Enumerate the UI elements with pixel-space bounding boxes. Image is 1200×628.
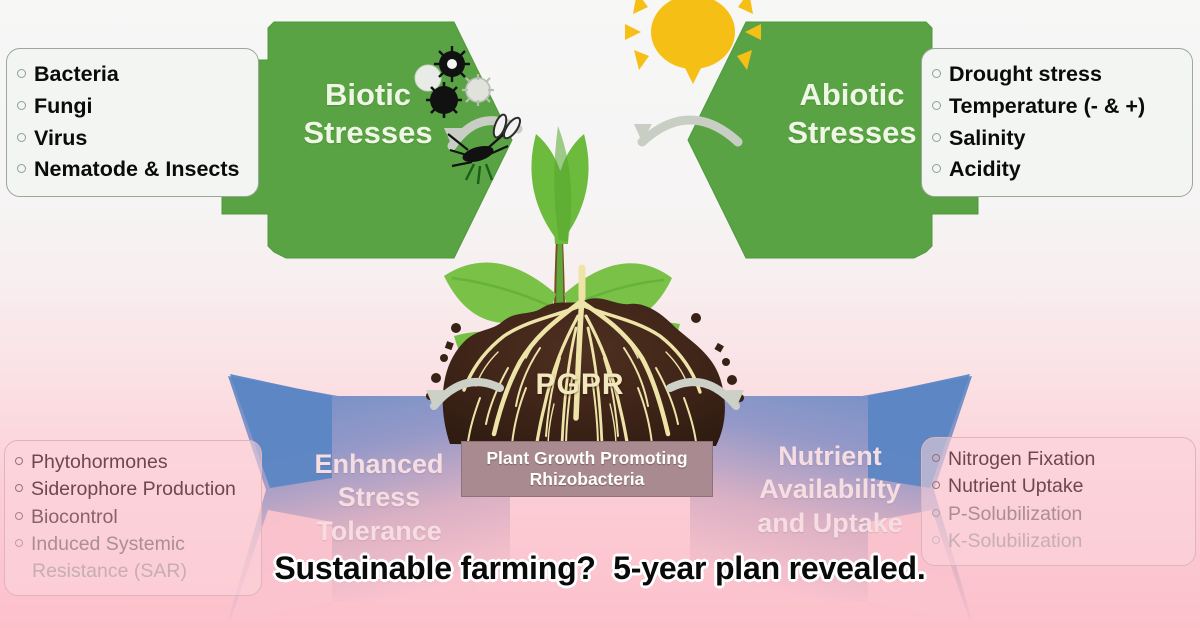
list-item-label: Nematode & Insects: [34, 154, 240, 186]
figure-canvas: Biotic Stresses Abiotic Stresses: [0, 0, 1200, 628]
bullet-icon: [17, 133, 26, 142]
list-item: P-Solubilization: [932, 501, 1183, 528]
list-item-label: Temperature (- & +): [949, 91, 1145, 123]
pgpr-traits-left-list: Phytohormones Siderophore Production Bio…: [15, 449, 249, 585]
list-item: Fungi: [17, 91, 246, 123]
bullet-icon: [17, 101, 26, 110]
biotic-stresses-panel: Bacteria Fungi Virus Nematode & Insects: [6, 48, 259, 197]
bullet-icon: [932, 164, 941, 173]
abiotic-stresses-panel: Drought stress Temperature (- & +) Salin…: [921, 48, 1193, 197]
bullet-icon: [932, 481, 940, 489]
list-item-label: Bacteria: [34, 59, 119, 91]
list-item-label: Virus: [34, 123, 87, 155]
list-item-label: Biocontrol: [31, 504, 118, 531]
bullet-icon: [17, 69, 26, 78]
list-item: Acidity: [932, 154, 1180, 186]
bullet-icon: [15, 484, 23, 492]
list-item-label: Drought stress: [949, 59, 1102, 91]
list-item-label: Acidity: [949, 154, 1021, 186]
list-item: Virus: [17, 123, 246, 155]
list-item: K-Solubilization: [932, 528, 1183, 555]
list-item: Bacteria: [17, 59, 246, 91]
pgpr-caption-line2: Rhizobacteria: [486, 469, 687, 490]
list-item: Salinity: [932, 123, 1180, 155]
pgpr-traits-left-panel: Phytohormones Siderophore Production Bio…: [4, 440, 262, 596]
list-item-label: Siderophore Production: [31, 476, 236, 503]
list-item: Nitrogen Fixation: [932, 446, 1183, 473]
list-item: Temperature (- & +): [932, 91, 1180, 123]
list-item-label: Salinity: [949, 123, 1025, 155]
soil-roots-illustration: [420, 258, 750, 458]
list-item: Nematode & Insects: [17, 154, 246, 186]
list-item-label: Nitrogen Fixation: [948, 446, 1095, 473]
virus-pathogen-icons: [415, 46, 494, 118]
list-item: Resistance (SAR): [15, 558, 249, 585]
abiotic-stresses-list: Drought stress Temperature (- & +) Salin…: [932, 59, 1180, 186]
biotic-stresses-list: Bacteria Fungi Virus Nematode & Insects: [17, 59, 246, 186]
bullet-icon: [932, 509, 940, 517]
pgpr-traits-right-panel: Nitrogen Fixation Nutrient Uptake P-Solu…: [921, 437, 1196, 566]
bullet-icon: [932, 69, 941, 78]
pgpr-caption-line1: Plant Growth Promoting: [486, 448, 687, 469]
bullet-icon: [17, 164, 26, 173]
list-item: Biocontrol: [15, 504, 249, 531]
list-item-label: P-Solubilization: [948, 501, 1082, 528]
list-item: Siderophore Production: [15, 476, 249, 503]
list-item-label: Resistance (SAR): [32, 558, 187, 585]
curved-arrow-icon-right: [642, 120, 738, 142]
sun-icon: [625, 0, 761, 84]
list-item-label: Fungi: [34, 91, 93, 123]
pgpr-traits-right-list: Nitrogen Fixation Nutrient Uptake P-Solu…: [932, 446, 1183, 555]
bullet-icon: [932, 536, 940, 544]
bullet-icon: [932, 454, 940, 462]
list-item-label: Nutrient Uptake: [948, 473, 1083, 500]
list-item: Phytohormones: [15, 449, 249, 476]
bullet-icon: [15, 457, 23, 465]
list-item-label: Phytohormones: [31, 449, 168, 476]
list-item-label: K-Solubilization: [948, 528, 1082, 555]
bullet-icon: [932, 101, 941, 110]
list-item-label: Induced Systemic: [31, 531, 185, 558]
list-item: Induced Systemic: [15, 531, 249, 558]
list-item: Nutrient Uptake: [932, 473, 1183, 500]
bullet-icon: [15, 512, 23, 520]
bullet-icon: [932, 133, 941, 142]
pgpr-caption-box: Plant Growth Promoting Rhizobacteria: [461, 441, 713, 497]
list-item: Drought stress: [932, 59, 1180, 91]
bullet-icon: [15, 539, 23, 547]
